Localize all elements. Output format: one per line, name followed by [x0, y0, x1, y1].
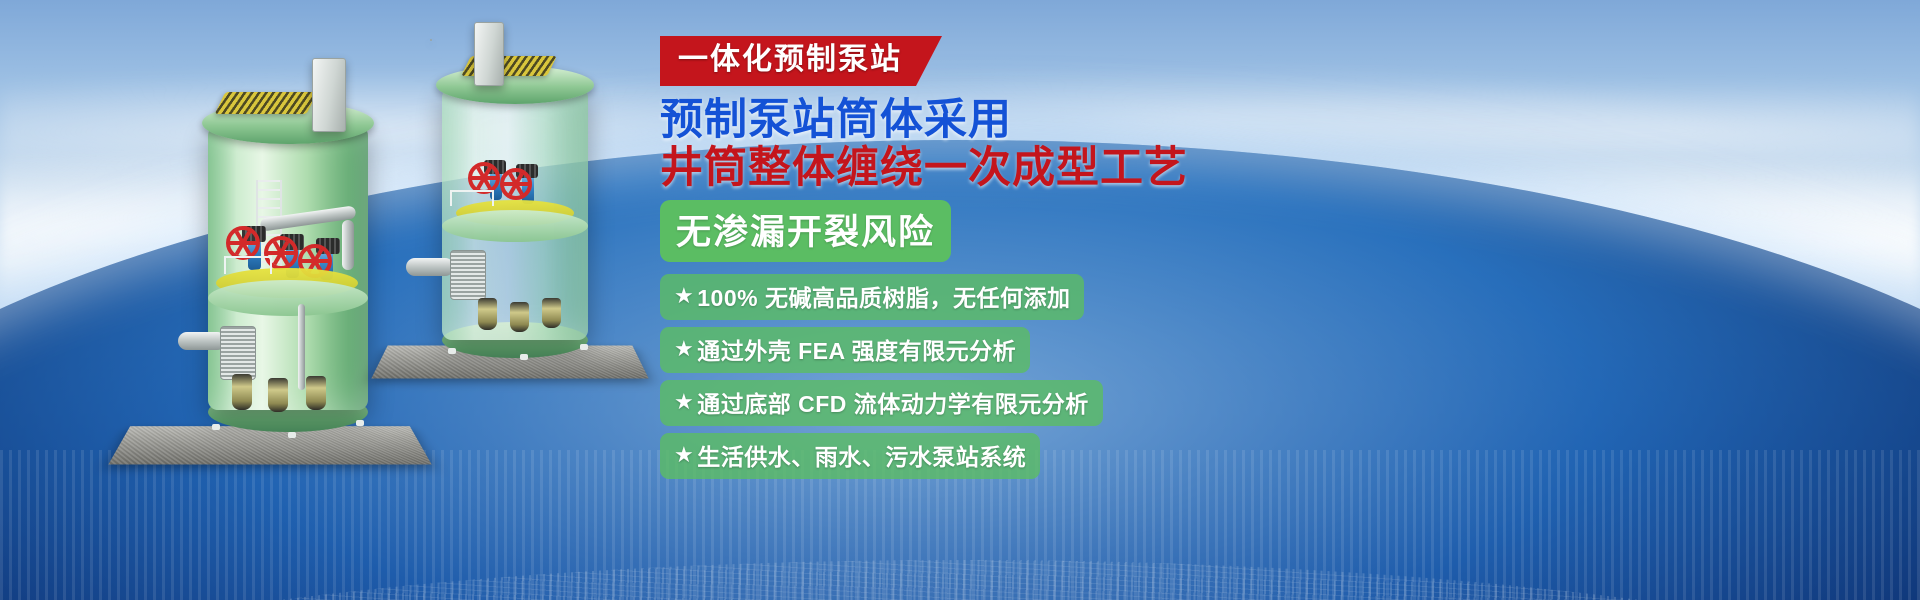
feature-list: ★ 100% 无碱高品质树脂，无任何添加 ★ 通过外壳 FEA 强度有限元分析 …: [660, 274, 1220, 479]
platform-railing-left: [224, 256, 272, 274]
star-icon: ★: [674, 338, 694, 360]
list-item-label: 通过底部 CFD 流体动力学有限元分析: [697, 385, 1089, 419]
list-item: ★ 通过外壳 FEA 强度有限元分析: [660, 327, 1030, 373]
anchor-bolt-left-1: [212, 424, 220, 430]
guide-rail-left: [298, 304, 305, 390]
platform-railing-right: [450, 190, 494, 206]
list-item-label: 通过外壳 FEA 强度有限元分析: [697, 332, 1016, 366]
product-category-tag: 一体化预制泵站: [660, 36, 942, 86]
riser-pipe-left: [342, 220, 354, 270]
list-item: ★ 100% 无碱高品质树脂，无任何添加: [660, 274, 1084, 320]
submersible-pump-right-2: [510, 302, 529, 332]
mid-deck-right: [442, 210, 588, 242]
inlet-pipe-right: [406, 258, 454, 276]
list-item: ★ 通过底部 CFD 流体动力学有限元分析: [660, 380, 1103, 426]
list-item-label: 100% 无碱高品质树脂，无任何添加: [697, 279, 1070, 313]
mid-deck-left: [208, 280, 368, 316]
control-cabinet-left-box: [312, 58, 346, 132]
anchor-bolt-right-3: [580, 344, 588, 350]
submersible-pump-right-3: [542, 298, 561, 328]
valve-handwheel-right-2: [500, 168, 532, 200]
star-icon: ★: [674, 391, 694, 413]
debris-basket-right: [450, 250, 486, 300]
anchor-bolt-left-3: [356, 420, 364, 426]
product-banner: 一体化预制泵站 预制泵站筒体采用 井筒整体缠绕一次成型工艺 无渗漏开裂风险 ★ …: [0, 0, 1920, 600]
pump-station-render-right: [370, 22, 690, 462]
grating-cover-left: [215, 92, 318, 114]
submersible-pump-left-2: [268, 378, 288, 412]
submersible-pump-right-1: [478, 298, 497, 330]
headline-line-2: 井筒整体缠绕一次成型工艺: [660, 144, 1220, 192]
anchor-bolt-left-2: [288, 432, 296, 438]
list-item: ★ 生活供水、雨水、污水泵站系统: [660, 433, 1040, 479]
star-icon: ★: [674, 285, 694, 307]
anchor-bolt-right-1: [448, 348, 456, 354]
anchor-bolt-right-2: [520, 354, 528, 360]
valve-handwheel-left-1: [226, 226, 260, 260]
banner-text-block: 一体化预制泵站 预制泵站筒体采用 井筒整体缠绕一次成型工艺 无渗漏开裂风险 ★ …: [660, 36, 1220, 486]
highlight-badge: 无渗漏开裂风险: [660, 200, 951, 262]
star-icon: ★: [674, 444, 694, 466]
debris-basket-left: [220, 326, 256, 380]
list-item-label: 生活供水、雨水、污水泵站系统: [697, 438, 1026, 472]
control-cabinet-right: [474, 22, 504, 86]
submersible-pump-left-3: [306, 376, 326, 410]
headline-line-1: 预制泵站筒体采用: [660, 96, 1220, 144]
submersible-pump-left-1: [232, 374, 252, 410]
inlet-pipe-left: [178, 332, 226, 350]
